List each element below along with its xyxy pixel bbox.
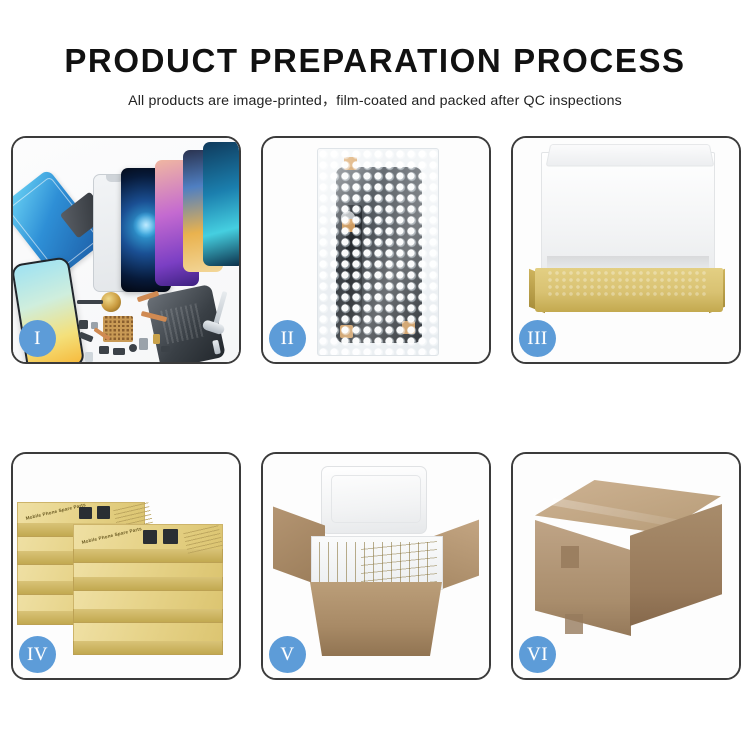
header: PRODUCT PREPARATION PROCESS All products… xyxy=(0,0,750,110)
step-panel-3: III xyxy=(511,136,741,364)
stacked-boxes-icon: Mobile Phone Spare Parts xyxy=(17,470,235,666)
product-preparation-infographic: PRODUCT PREPARATION PROCESS All products… xyxy=(0,0,750,750)
step-panel-2: II xyxy=(261,136,491,364)
step-badge-3: III xyxy=(519,320,556,357)
carton-left-face-icon xyxy=(535,520,631,636)
page-subtitle: All products are image-printed，film-coat… xyxy=(0,90,750,110)
step-panel-6: VI xyxy=(511,452,741,680)
step-badge-6: VI xyxy=(519,636,556,673)
carton-tape-lower-icon xyxy=(565,614,583,634)
bubble-wrap-bag-icon xyxy=(317,148,439,356)
step-badge-1: I xyxy=(19,320,56,357)
steps-grid: I II xyxy=(11,136,741,680)
step-badge-2: II xyxy=(269,320,306,357)
carton-body-icon xyxy=(301,582,451,656)
carton-tape-upper-icon xyxy=(561,546,579,568)
page-title: PRODUCT PREPARATION PROCESS xyxy=(0,42,750,80)
step-badge-4: IV xyxy=(19,636,56,673)
step-panel-1: I xyxy=(11,136,241,364)
foam-lid-icon xyxy=(321,466,427,534)
phone-display-teal-icon xyxy=(203,142,241,266)
step-badge-5: V xyxy=(269,636,306,673)
step-panel-5: V xyxy=(261,452,491,680)
packed-yellow-boxes-secondary-icon xyxy=(361,536,437,590)
repair-tool-icon xyxy=(197,288,237,360)
step-panel-4: Mobile Phone Spare Parts xyxy=(11,452,241,680)
packed-contents-icon xyxy=(547,270,707,296)
spare-parts-cluster-icon xyxy=(75,290,185,364)
